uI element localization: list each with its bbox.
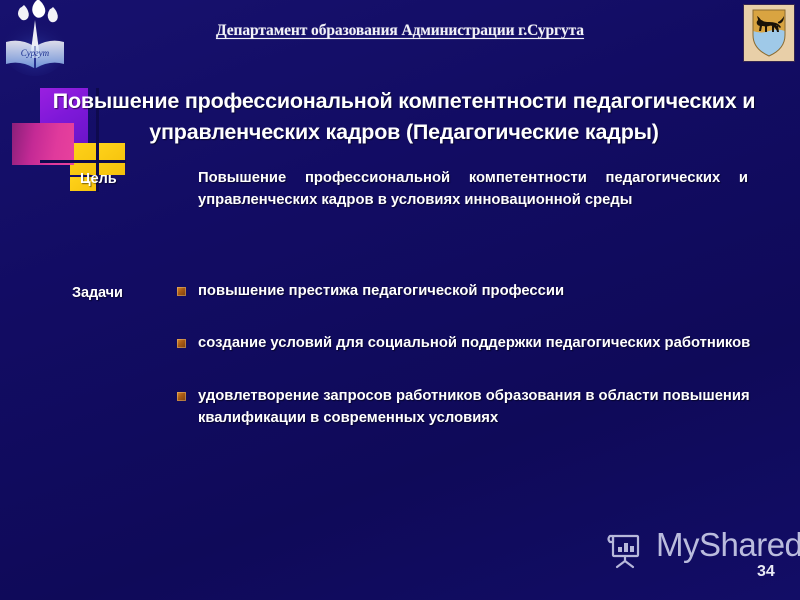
myshared-watermark: MyShared xyxy=(604,527,779,575)
watermark-text: MyShared xyxy=(656,526,800,564)
bullet-square-icon xyxy=(177,287,186,296)
department-title: Департамент образования Администрации г.… xyxy=(0,22,800,40)
bullet-square-icon xyxy=(177,339,186,348)
task-item: повышение престижа педагогической профес… xyxy=(176,280,776,302)
task-item-label: создание условий для социальной поддержк… xyxy=(198,335,750,351)
slide-header: Сургут Департамент образования Администр… xyxy=(0,0,800,70)
task-item: создание условий для социальной поддержк… xyxy=(176,332,776,354)
tasks-list: повышение престижа педагогической профес… xyxy=(176,280,776,430)
slide-body: Цель Повышение профессиональной компетен… xyxy=(0,168,800,538)
goal-label: Цель xyxy=(80,171,117,187)
coat-of-arms-svg xyxy=(744,5,794,61)
task-item: удовлетворение запросов работников образ… xyxy=(176,385,776,430)
slide-title-line-1: Повышение профессиональной компетентност… xyxy=(53,89,737,113)
tasks-label: Задачи xyxy=(72,285,123,301)
logo-caption-text: Сургут xyxy=(21,48,50,58)
slide-title: Повышение профессиональной компетентност… xyxy=(34,86,774,147)
presentation-chart-icon xyxy=(604,529,646,576)
presentation-slide: Сургут Департамент образования Администр… xyxy=(0,0,800,600)
task-item-label: удовлетворение запросов работников образ… xyxy=(198,388,750,426)
presentation-chart-icon-svg xyxy=(604,529,646,571)
task-item-label: повышение престижа педагогической профес… xyxy=(198,283,564,299)
surgut-coat-of-arms xyxy=(744,5,794,61)
page-number: 34 xyxy=(757,563,775,581)
goal-text: Повышение профессиональной компетентност… xyxy=(198,168,748,212)
decorative-horizontal-line xyxy=(40,160,126,163)
bullet-square-icon xyxy=(177,392,186,401)
